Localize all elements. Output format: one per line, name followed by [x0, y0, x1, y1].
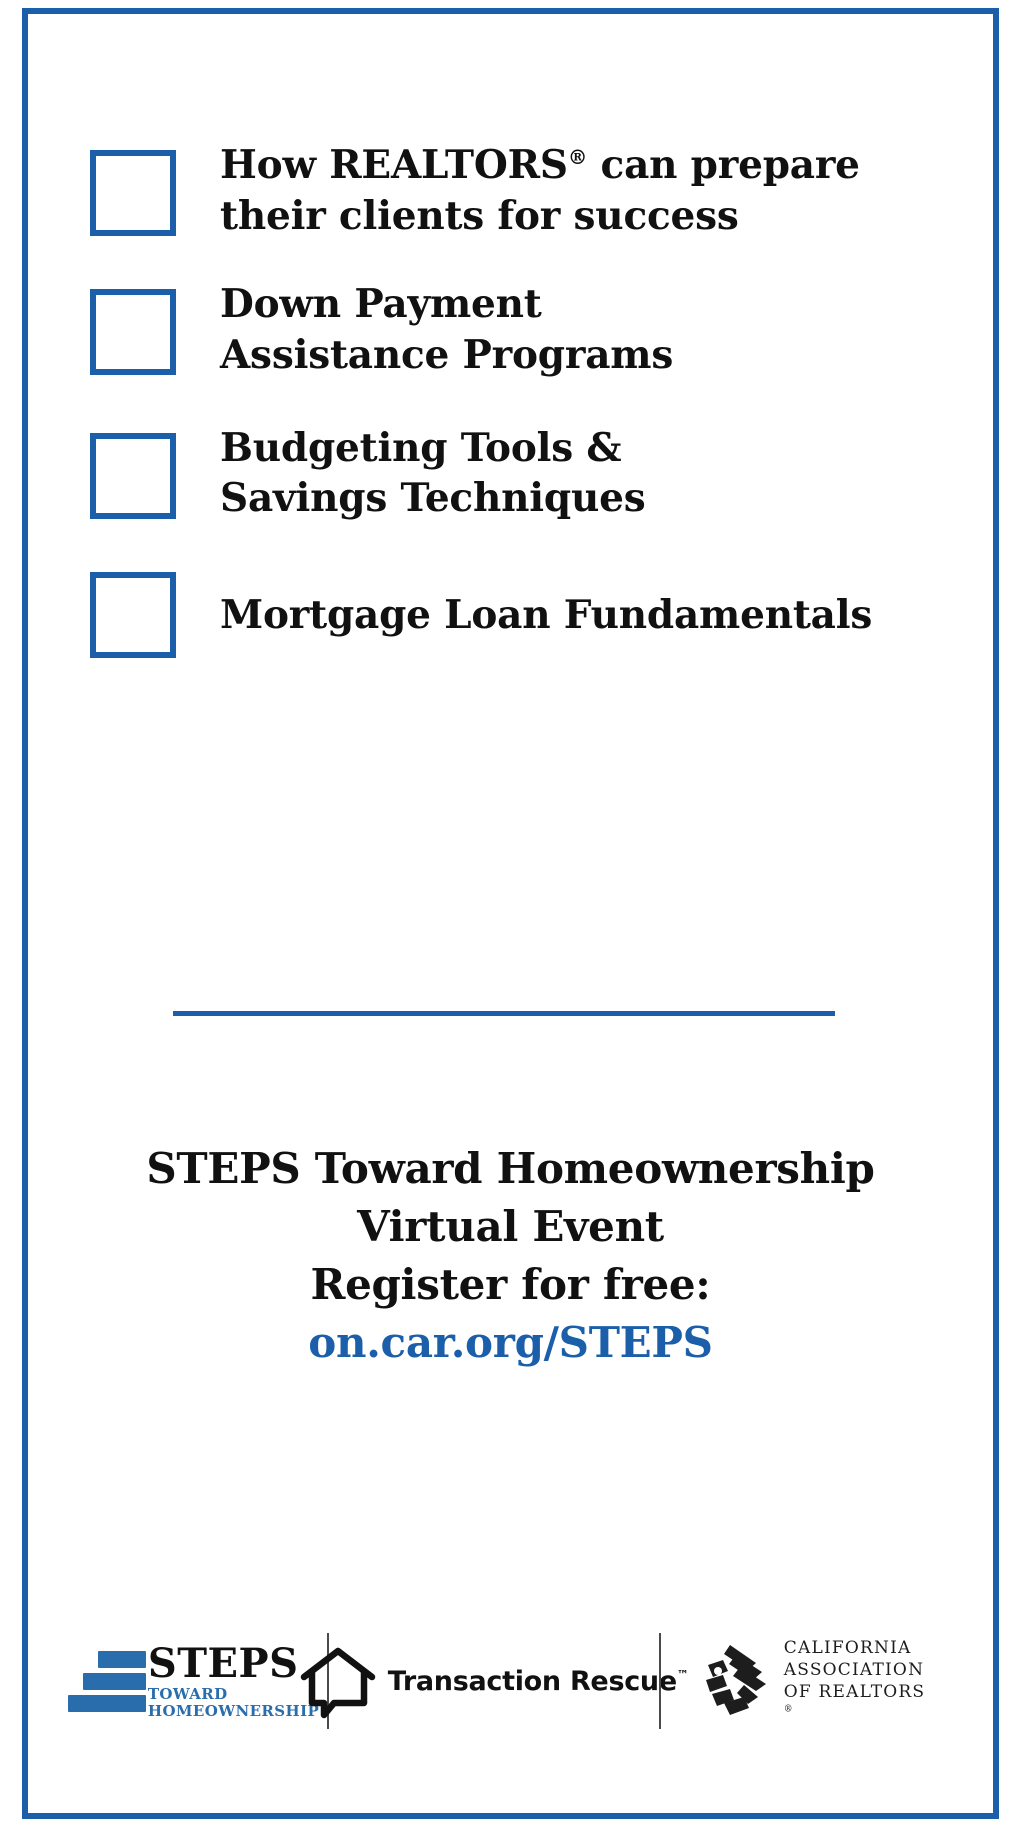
transaction-rescue-text: Transaction Rescue	[388, 1666, 677, 1697]
checklist-item-3-line2-text: Savings Techniques	[220, 475, 646, 521]
checklist: How REALTORS® can preparetheir clients f…	[90, 140, 910, 658]
poster-canvas: How REALTORS® can preparetheir clients f…	[0, 0, 1021, 1827]
checklist-item-4[interactable]: Mortgage Loan Fundamentals	[90, 572, 910, 658]
logo-transaction-rescue: Transaction Rescue™	[329, 1618, 659, 1744]
steps-logo-lockup: STEPS TOWARD HOMEOWNERSHIP	[68, 1644, 319, 1719]
car-wordmark: CALIFORNIA ASSOCIATION OF REALTORS®	[784, 1637, 925, 1725]
car-bear-fan-icon	[696, 1641, 770, 1721]
checklist-item-4-label: Mortgage Loan Fundamentals	[220, 572, 910, 641]
checklist-item-2-line1-text: Down Payment	[220, 281, 542, 327]
checklist-item-1-label: How REALTORS® can preparetheir clients f…	[220, 140, 910, 241]
checkbox-icon[interactable]	[90, 572, 176, 658]
steps-logo-word-main: STEPS	[148, 1644, 319, 1684]
car-line-3-wrap: OF REALTORS®	[784, 1681, 925, 1725]
checklist-item-1-line1-text: How REALTORS	[220, 142, 568, 188]
checklist-item-1[interactable]: How REALTORS® can preparetheir clients f…	[90, 140, 910, 241]
event-title-line-2: Virtual Event	[0, 1198, 1021, 1256]
registered-trademark-icon: ®	[568, 146, 587, 169]
car-logo-lockup: CALIFORNIA ASSOCIATION OF REALTORS®	[696, 1637, 925, 1725]
car-line-2: ASSOCIATION	[784, 1659, 925, 1681]
checklist-item-3[interactable]: Budgeting Tools &Savings Techniques	[90, 423, 910, 524]
checklist-item-3-line1-text: Budgeting Tools &	[220, 425, 621, 471]
logo-steps: STEPS TOWARD HOMEOWNERSHIP	[60, 1618, 327, 1744]
logo-california-association-of-realtors: CALIFORNIA ASSOCIATION OF REALTORS®	[661, 1618, 960, 1744]
event-register-prompt: Register for free:	[0, 1256, 1021, 1314]
event-registration-url[interactable]: on.car.org/STEPS	[0, 1314, 1021, 1372]
car-line-3: OF REALTORS	[784, 1681, 925, 1703]
transaction-rescue-lockup: Transaction Rescue™	[300, 1643, 689, 1719]
steps-logo-subline-1: TOWARD	[148, 1687, 319, 1702]
transaction-rescue-wordmark: Transaction Rescue™	[388, 1666, 689, 1697]
checkbox-icon[interactable]	[90, 150, 176, 236]
stairs-icon	[68, 1649, 146, 1713]
event-title-line-1: STEPS Toward Homeownership	[0, 1140, 1021, 1198]
checklist-item-2-label: Down PaymentAssistance Programs	[220, 279, 910, 380]
car-line-1: CALIFORNIA	[784, 1637, 925, 1659]
checklist-item-2-line2-text: Assistance Programs	[220, 332, 673, 378]
checklist-item-3-label: Budgeting Tools &Savings Techniques	[220, 423, 910, 524]
steps-logo-wordmark: STEPS TOWARD HOMEOWNERSHIP	[148, 1644, 319, 1719]
house-speech-bubble-icon	[300, 1643, 376, 1719]
checklist-item-1-line2-text: their clients for success	[220, 193, 739, 239]
section-divider	[173, 1011, 835, 1016]
event-details: STEPS Toward Homeownership Virtual Event…	[0, 1140, 1021, 1372]
registered-trademark-icon: ®	[784, 1705, 794, 1715]
checkbox-icon[interactable]	[90, 289, 176, 375]
checkbox-icon[interactable]	[90, 433, 176, 519]
steps-logo-subline-2: HOMEOWNERSHIP	[148, 1704, 319, 1719]
checklist-item-1-line1-tail: can prepare	[587, 142, 860, 188]
checklist-item-2[interactable]: Down PaymentAssistance Programs	[90, 279, 910, 380]
footer-logo-bar: STEPS TOWARD HOMEOWNERSHIP Transaction R…	[60, 1618, 960, 1744]
